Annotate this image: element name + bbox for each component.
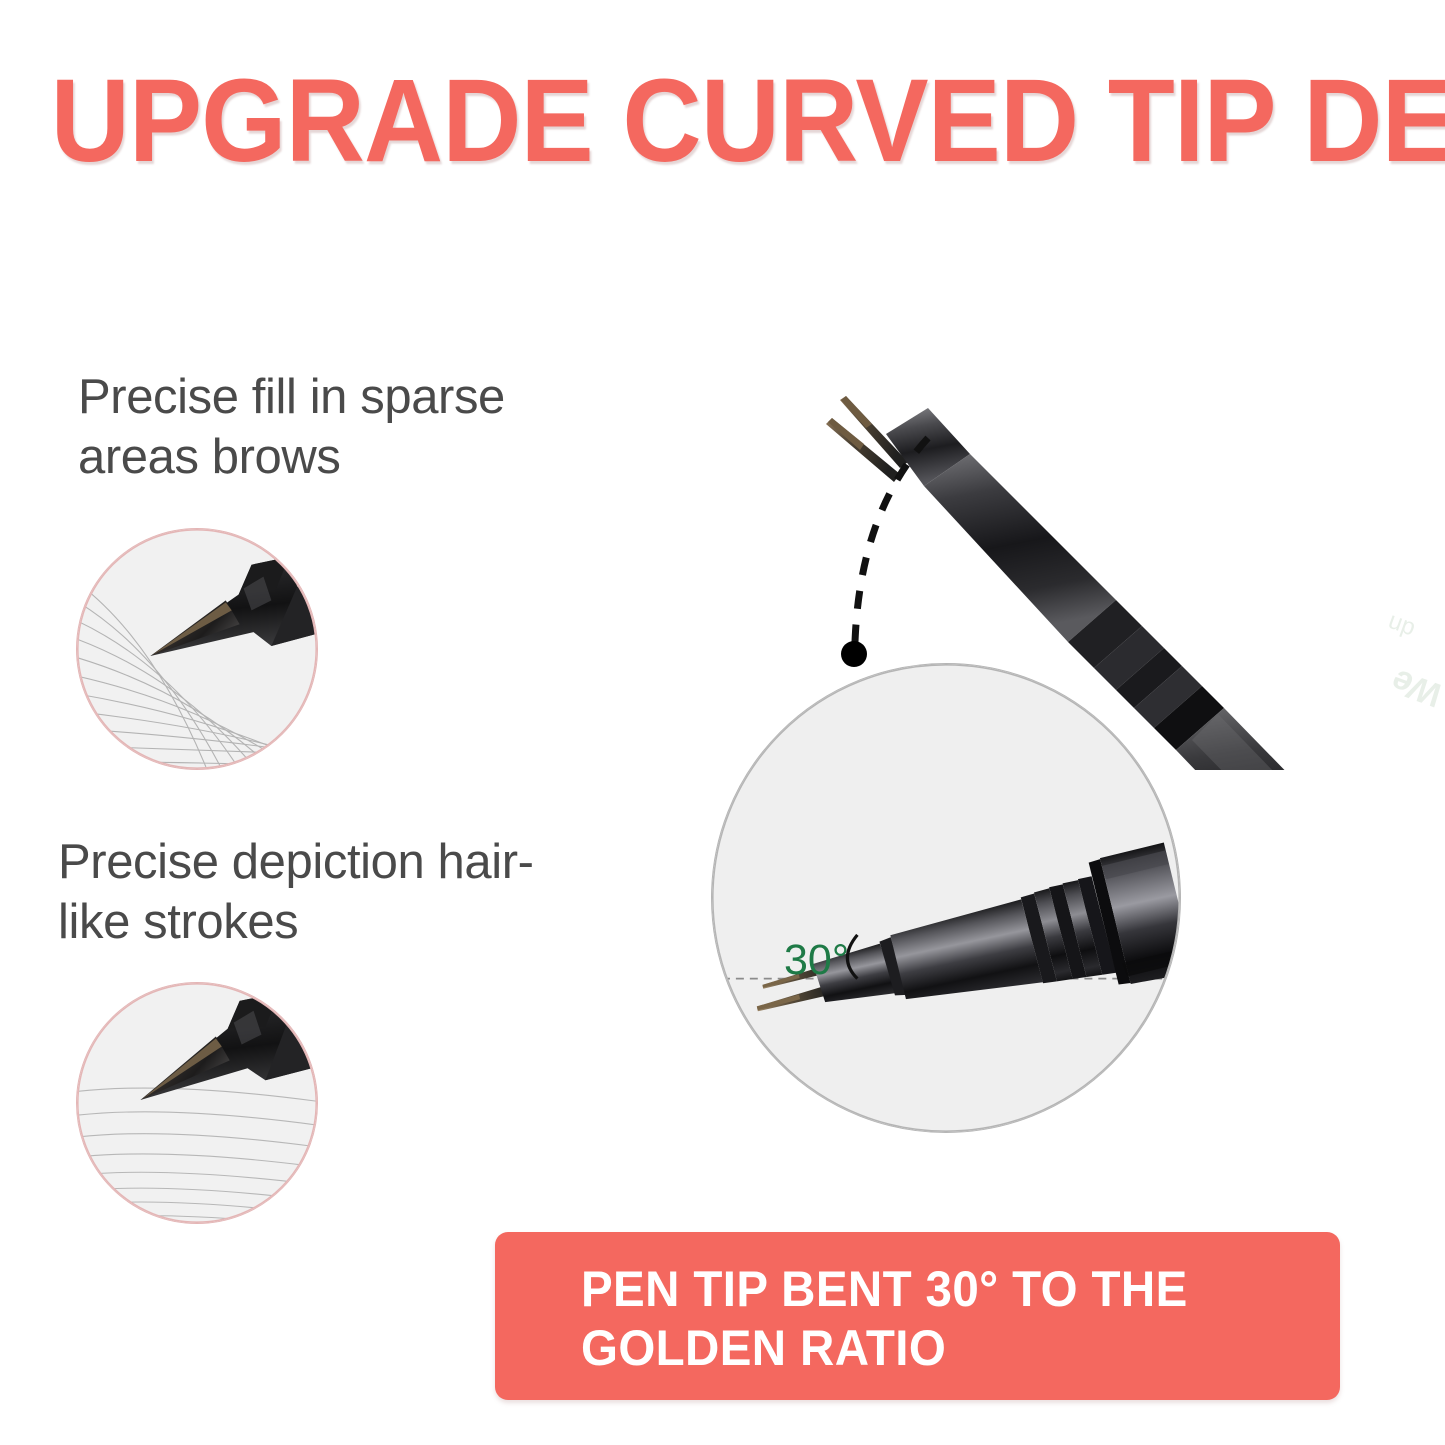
feature-label-precise-depiction: Precise depiction hair-like strokes [58, 833, 598, 953]
angle-value-label: 30° [784, 936, 849, 985]
inset-image-precise-depiction [76, 982, 318, 1224]
magnifier-artwork [712, 664, 1180, 1132]
inset-1-artwork [77, 529, 317, 769]
page-title: UPGRADE CURVED TIP DESIGN [51, 62, 1395, 180]
bottom-banner-line-1: PEN TIP BENT 30° TO THE [581, 1260, 1265, 1319]
magnifier-circle: 30° [711, 663, 1181, 1133]
callout-leader [800, 420, 960, 680]
bottom-banner-text: PEN TIP BENT 30° TO THE GOLDEN RATIO [581, 1260, 1265, 1378]
inset-image-precise-fill [76, 528, 318, 770]
bottom-banner-line-2: GOLDEN RATIO [581, 1319, 1265, 1378]
callout-dashed-curve [855, 438, 928, 642]
inset-2-artwork [77, 983, 317, 1223]
magnifier-contents [712, 664, 1180, 1132]
infographic-page: UPGRADE CURVED TIP DESIGN Precise fill i… [0, 0, 1445, 1445]
feature-label-precise-fill: Precise fill in sparse areas brows [78, 368, 638, 488]
bottom-callout-banner: PEN TIP BENT 30° TO THE GOLDEN RATIO [495, 1232, 1340, 1400]
